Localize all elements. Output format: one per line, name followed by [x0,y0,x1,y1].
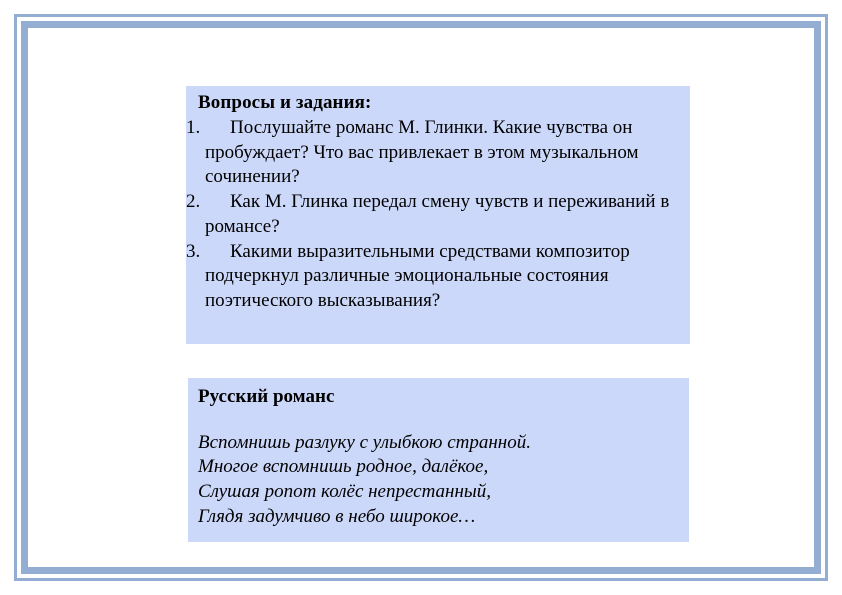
romance-textbox: Русский романс Вспомнишь разлуку с улыбк… [188,378,689,542]
questions-textbox: Вопросы и задания: 1. Послушайте романс … [186,86,690,344]
poem-line: Слушая ропот колёс непрестанный, [198,480,679,505]
poem-line: Глядя задумчиво в небо широкое… [198,505,679,530]
list-item: 1. Послушайте романс М. Глинки. Какие чу… [186,116,682,189]
romance-heading: Русский романс [198,386,679,409]
list-item-text: Как М. Глинка передал смену чувств и пер… [205,190,682,239]
slide: Вопросы и задания: 1. Послушайте романс … [0,0,842,595]
list-item-text: Послушайте романс М. Глинки. Какие чувст… [205,116,682,189]
poem-line: Вспомнишь разлуку с улыбкою странной. [198,431,679,456]
poem-line: Многое вспомнишь родное, далёкое, [198,455,679,480]
list-item: 3. Какими выразительными средствами комп… [186,240,682,313]
list-item-number: 2. [186,190,205,214]
list-item-text: Какими выразительными средствами компози… [205,240,682,313]
questions-heading: Вопросы и задания: [198,92,682,114]
questions-list: 1. Послушайте романс М. Глинки. Какие чу… [186,116,682,313]
list-item: 2. Как М. Глинка передал смену чувств и … [186,190,682,239]
slide-content: Вопросы и задания: 1. Послушайте романс … [0,0,842,595]
list-item-number: 3. [186,240,205,264]
list-item-number: 1. [186,116,205,140]
romance-spacer [198,409,679,431]
